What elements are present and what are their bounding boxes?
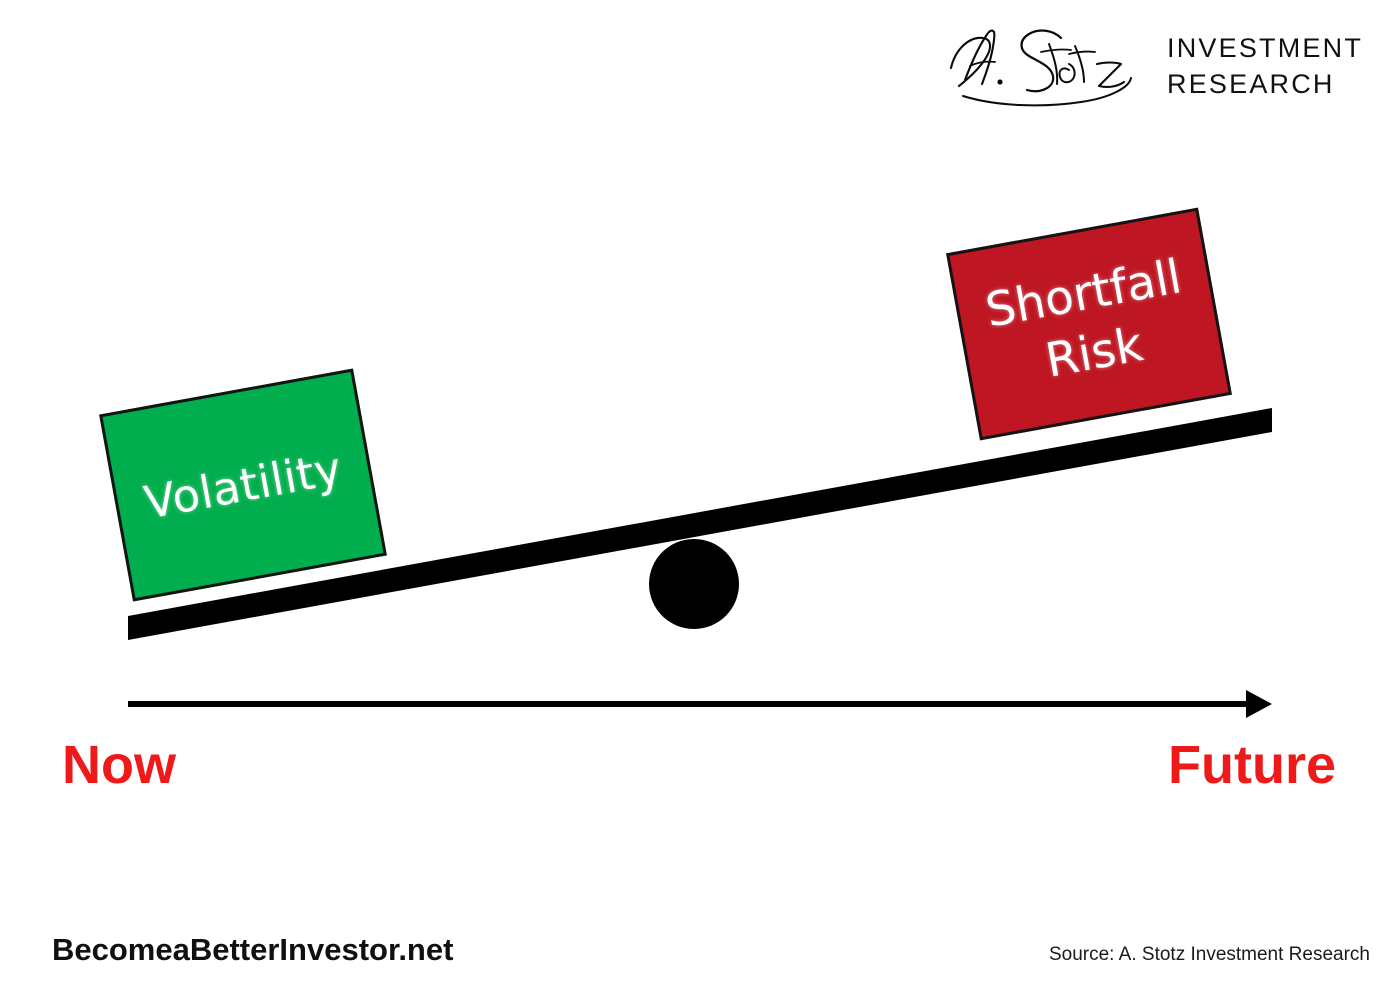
website-label[interactable]: BecomeaBetterInvestor.net	[52, 932, 453, 968]
shortfall-risk-block[interactable]: Shortfall Risk	[946, 208, 1232, 441]
brand-logo: INVESTMENT RESEARCH	[945, 14, 1375, 110]
slide-canvas: INVESTMENT RESEARCH Volatility Shortfall…	[0, 0, 1400, 1000]
source-attribution: Source: A. Stotz Investment Research	[1049, 944, 1370, 966]
timeline-arrowhead-icon	[1246, 690, 1272, 718]
brand-wordmark: INVESTMENT RESEARCH	[1167, 30, 1377, 102]
timeline-start-label: Now	[62, 735, 176, 795]
brand-line-1: INVESTMENT	[1167, 30, 1377, 66]
shortfall-risk-block-label: Shortfall Risk	[955, 243, 1222, 406]
timeline-end-label: Future	[1168, 735, 1336, 795]
brand-line-2: RESEARCH	[1167, 66, 1377, 102]
volatility-block[interactable]: Volatility	[99, 368, 387, 601]
volatility-block-label: Volatility	[140, 441, 346, 529]
a-stotz-signature-icon	[945, 14, 1160, 110]
fulcrum-pivot-icon	[649, 539, 739, 629]
